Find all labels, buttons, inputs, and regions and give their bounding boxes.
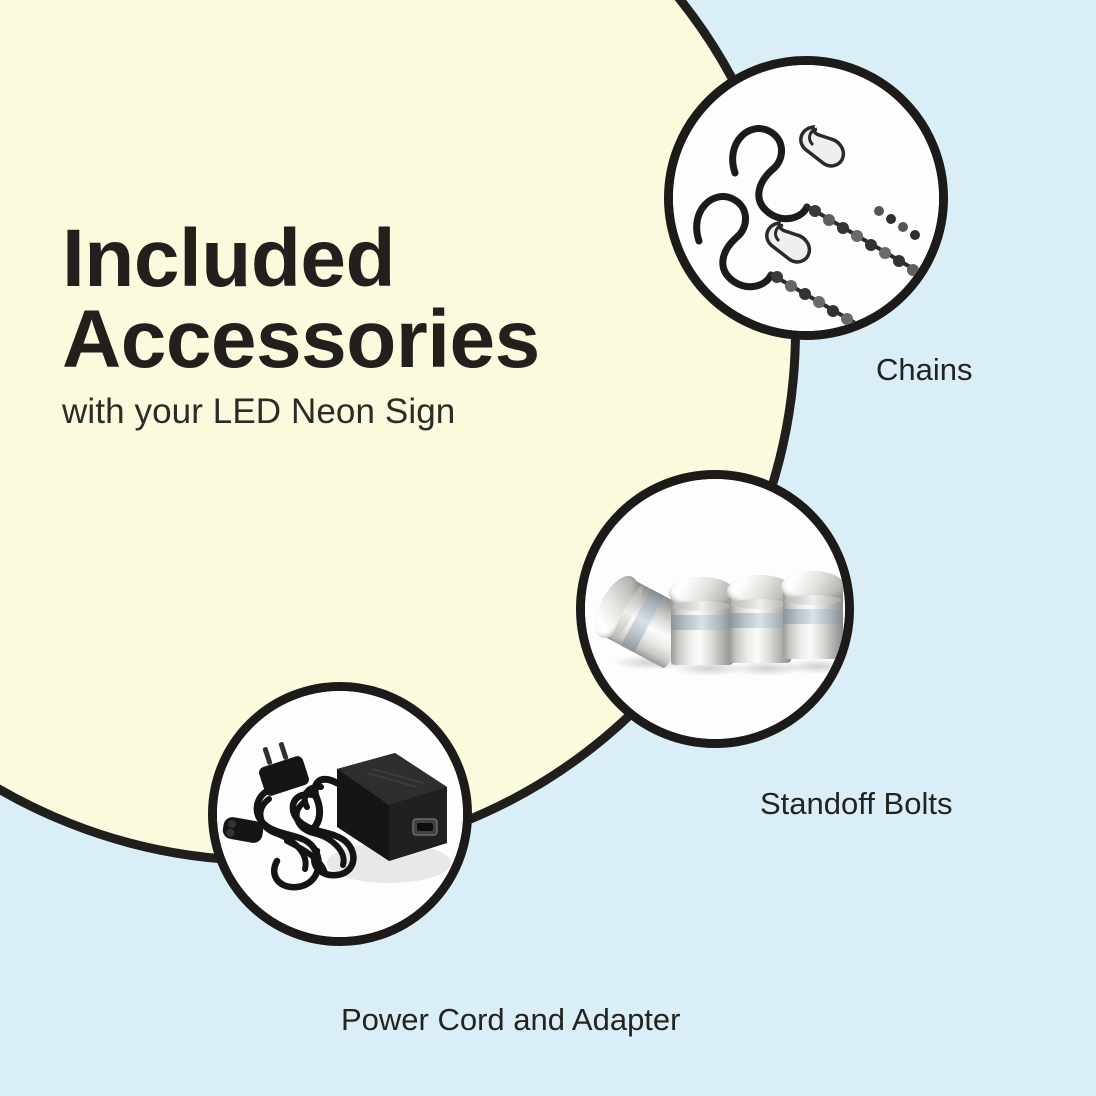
chains-illustration [673, 65, 939, 331]
bolt-cap-edge [673, 601, 731, 611]
chains-photo [673, 65, 939, 331]
bolt-ring [729, 613, 791, 628]
headline-line-2: Accessories [62, 299, 702, 380]
bolt-ring [783, 609, 843, 624]
standoff-bolts-photo [585, 479, 845, 739]
label-chains: Chains [876, 352, 973, 388]
bolt-ring [671, 615, 733, 630]
label-standoff-bolts: Standoff Bolts [760, 786, 952, 822]
headline-block: Included Accessories with your LED Neon … [62, 218, 702, 432]
bolt-cap-edge [785, 595, 841, 605]
label-power-cord-adapter: Power Cord and Adapter [341, 1002, 681, 1038]
headline-line-1: Included [62, 218, 702, 299]
power-cord-adapter-photo [217, 691, 463, 937]
standoff-bolt-3 [783, 571, 843, 663]
bubble-standoffs [576, 470, 854, 748]
bubble-power-cord [208, 682, 472, 946]
standoff-bolt-1 [671, 577, 733, 669]
power-adapter-illustration [217, 691, 463, 937]
headline-subtitle: with your LED Neon Sign [62, 392, 702, 432]
bubble-chains [664, 56, 948, 340]
bolt-cap-edge [731, 599, 789, 609]
infographic-canvas: Included Accessories with your LED Neon … [0, 0, 1096, 1096]
